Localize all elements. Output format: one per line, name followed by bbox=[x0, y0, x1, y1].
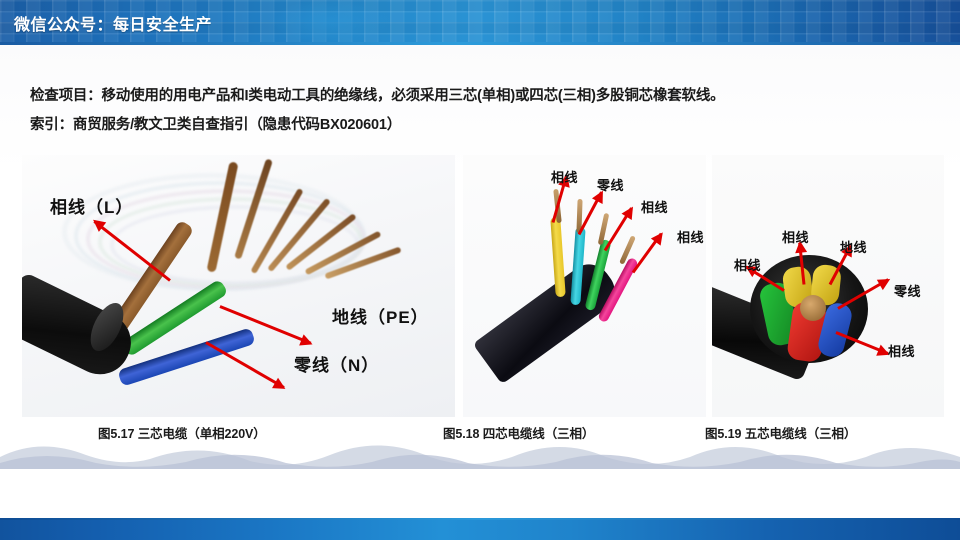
label-neutral: 零线 bbox=[597, 175, 624, 194]
slide-content: 检查项目：移动使用的用电产品和I类电动工具的绝缘线，必须采用三芯(单相)或四芯(… bbox=[0, 45, 960, 465]
label-phase-2: 相线 bbox=[641, 197, 668, 216]
inspection-item-line: 检查项目：移动使用的用电产品和I类电动工具的绝缘线，必须采用三芯(单相)或四芯(… bbox=[30, 85, 940, 107]
figure-5-18-photo: 相线 零线 相线 相线 bbox=[463, 155, 706, 417]
figure-5-17-photo: 相线（L） 地线（PE） 零线（N） bbox=[22, 155, 455, 417]
bottom-bar-highlight bbox=[0, 518, 960, 520]
caption-figure-5-17: 图5.17 三芯电缆（单相220V） bbox=[98, 423, 266, 442]
core-copper-center bbox=[800, 295, 826, 321]
label-phase-L: 相线（L） bbox=[50, 193, 133, 218]
label-neutral: 零线 bbox=[894, 281, 921, 300]
label-phase-1: 相线 bbox=[551, 167, 578, 186]
banner-title: 微信公众号：每日安全生产 bbox=[14, 11, 212, 35]
figure-5-17: 相线（L） 地线（PE） 零线（N） bbox=[22, 155, 455, 417]
label-earth-PE: 地线（PE） bbox=[332, 303, 429, 328]
figure-5-18: 相线 零线 相线 相线 bbox=[463, 155, 706, 417]
top-banner: 微信公众号：每日安全生产 bbox=[0, 0, 960, 45]
caption-figure-5-18: 图5.18 四芯电缆线（三相） bbox=[443, 423, 594, 442]
banner-highlight bbox=[270, 0, 390, 45]
label-earth: 地线 bbox=[840, 237, 867, 256]
label-phase-left: 相线 bbox=[734, 255, 761, 274]
figure-5-19-photo: 相线 相线 地线 零线 相线 bbox=[712, 155, 944, 417]
index-line: 索引：商贸服务/教文卫类自查指引（隐患代码BX020601） bbox=[30, 114, 940, 136]
label-phase-3: 相线 bbox=[677, 227, 704, 246]
label-neutral-N: 零线（N） bbox=[294, 351, 379, 376]
text-block: 检查项目：移动使用的用电产品和I类电动工具的绝缘线，必须采用三芯(单相)或四芯(… bbox=[30, 85, 940, 137]
label-phase-bottom: 相线 bbox=[888, 341, 915, 360]
bottom-bar bbox=[0, 518, 960, 540]
figures-row: 相线（L） 地线（PE） 零线（N） bbox=[0, 155, 960, 420]
label-phase-top: 相线 bbox=[782, 227, 809, 246]
caption-figure-5-19: 图5.19 五芯电缆线（三相） bbox=[705, 423, 856, 442]
figure-5-19: 相线 相线 地线 零线 相线 bbox=[712, 155, 944, 417]
captions-row: 图5.17 三芯电缆（单相220V） 图5.18 四芯电缆线（三相） 图5.19… bbox=[0, 423, 960, 445]
